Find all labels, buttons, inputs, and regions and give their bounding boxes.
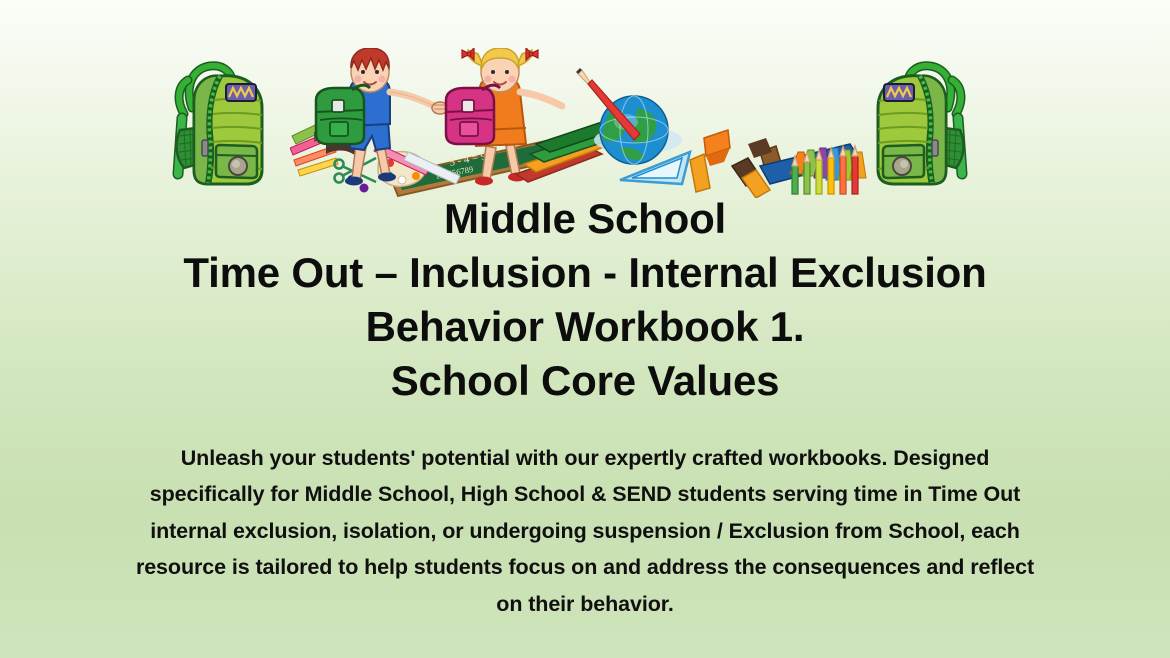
description-text: Unleash your students' potential with ou… bbox=[128, 440, 1042, 623]
page-title: Middle School Time Out – Inclusion - Int… bbox=[0, 192, 1170, 408]
slide-canvas: 5 - 4 = 9 123456789 bbox=[0, 0, 1170, 658]
header-illustration: 5 - 4 = 9 123456789 bbox=[0, 48, 1170, 198]
green-backpack-icon bbox=[862, 56, 982, 196]
title-line-2: Time Out – Inclusion - Internal Exclusio… bbox=[0, 246, 1170, 300]
green-backpack-icon bbox=[158, 56, 278, 196]
title-line-4: School Core Values bbox=[0, 354, 1170, 408]
title-line-3: Behavior Workbook 1. bbox=[0, 300, 1170, 354]
title-line-1: Middle School bbox=[0, 192, 1170, 246]
